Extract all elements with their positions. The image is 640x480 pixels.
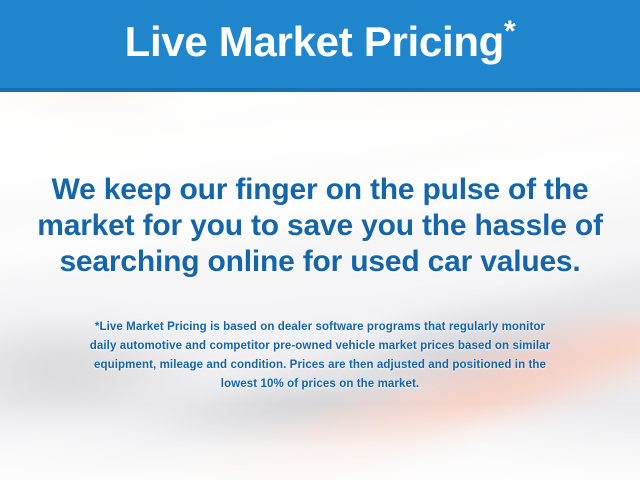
headline-line-2: market for you to save you the hassle of xyxy=(0,208,640,244)
headline: We keep our finger on the pulse of the m… xyxy=(0,172,640,280)
disclaimer-line-3: equipment, mileage and condition. Prices… xyxy=(0,356,640,375)
banner-title: Live Market Pricing* xyxy=(125,21,516,63)
headline-line-3: searching online for used car values. xyxy=(0,244,640,280)
banner-asterisk: * xyxy=(504,15,515,48)
disclaimer: *Live Market Pricing is based on dealer … xyxy=(0,318,640,394)
banner-title-text: Live Market Pricing xyxy=(125,18,504,65)
live-market-pricing-card: Live Market Pricing* We keep our finger … xyxy=(0,0,640,480)
disclaimer-line-4: lowest 10% of prices on the market. xyxy=(0,375,640,394)
headline-line-1: We keep our finger on the pulse of the xyxy=(0,172,640,208)
disclaimer-line-1: *Live Market Pricing is based on dealer … xyxy=(0,318,640,337)
header-banner: Live Market Pricing* xyxy=(0,0,640,92)
disclaimer-line-2: daily automotive and competitor pre-owne… xyxy=(0,337,640,356)
